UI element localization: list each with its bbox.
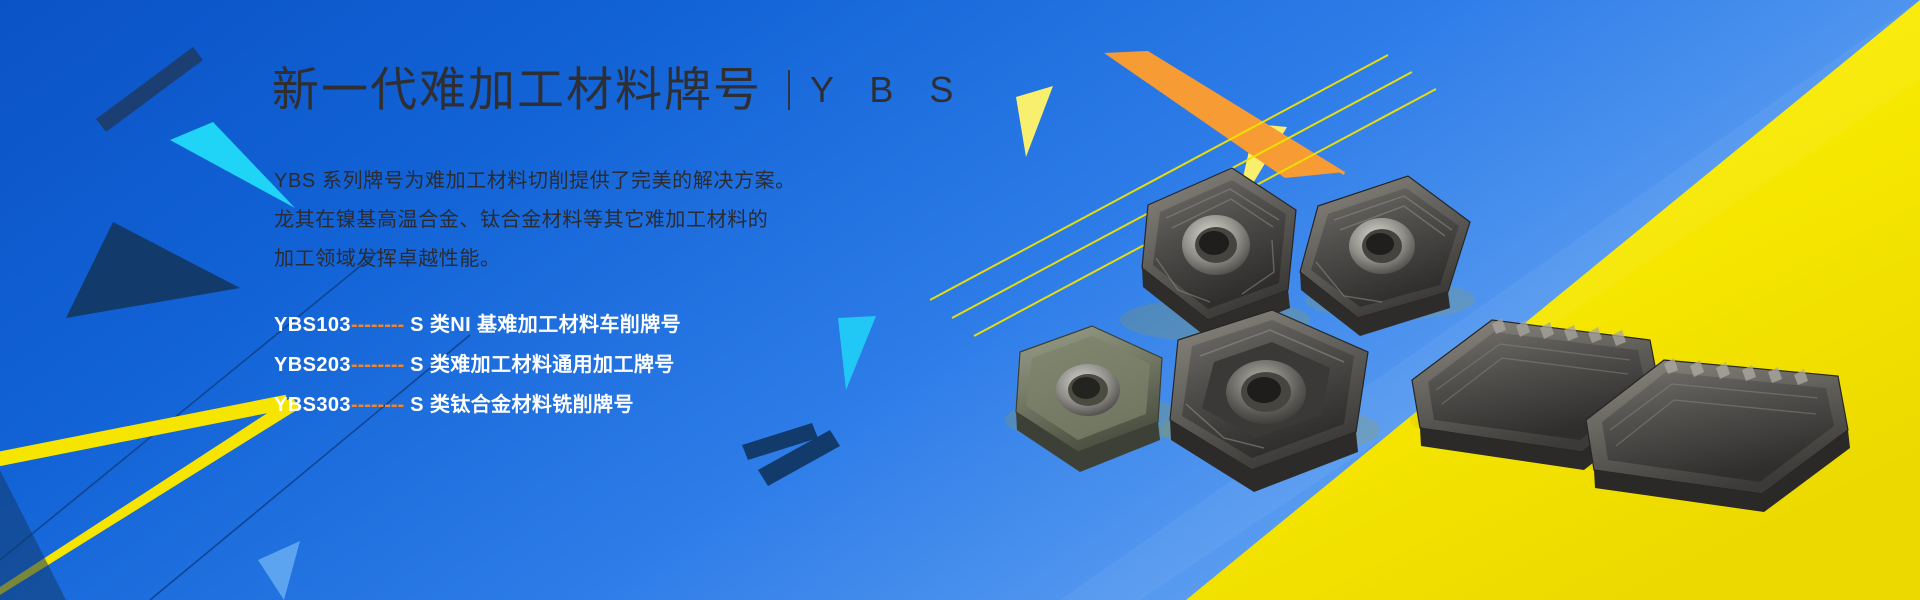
grade-dash: -------- [351, 354, 404, 376]
grade-dash: -------- [351, 314, 404, 336]
grade-code: YBS203 [274, 354, 351, 376]
grade-list: YBS103-------- S 类NI 基难加工材料车削牌号 YBS203--… [274, 305, 681, 425]
page-title: 新一代难加工材料牌号 [272, 66, 762, 113]
grade-description: S 类难加工材料通用加工牌号 [410, 354, 675, 376]
grade-description: S 类NI 基难加工材料车削牌号 [410, 314, 681, 336]
grade-code: YBS103 [274, 314, 351, 336]
grade-description: S 类钛合金材料铣削牌号 [410, 394, 634, 416]
list-item: YBS203-------- S 类难加工材料通用加工牌号 [274, 345, 681, 385]
paragraph-line: 龙其在镍基高温合金、钛合金材料等其它难加工材料的 [274, 201, 796, 240]
title-divider [788, 70, 790, 110]
banner-title: 新一代难加工材料牌号 Y B S [272, 66, 966, 113]
grade-dash: -------- [351, 394, 404, 416]
list-item: YBS103-------- S 类NI 基难加工材料车削牌号 [274, 305, 681, 345]
list-item: YBS303-------- S 类钛合金材料铣削牌号 [274, 385, 681, 425]
banner-paragraph: YBS 系列牌号为难加工材料切削提供了完美的解决方案。 龙其在镍基高温合金、钛合… [274, 162, 796, 279]
paragraph-line: 加工领域发挥卓越性能。 [274, 240, 796, 279]
promo-banner: 新一代难加工材料牌号 Y B S YBS 系列牌号为难加工材料切削提供了完美的解… [0, 0, 1920, 600]
paragraph-line: YBS 系列牌号为难加工材料切削提供了完美的解决方案。 [274, 162, 796, 201]
square-milling-insert [1170, 310, 1368, 492]
page-title-en: Y B S [810, 72, 966, 108]
grade-code: YBS303 [274, 394, 351, 416]
banner-copy: 新一代难加工材料牌号 Y B S YBS 系列牌号为难加工材料切削提供了完美的解… [272, 0, 1172, 600]
